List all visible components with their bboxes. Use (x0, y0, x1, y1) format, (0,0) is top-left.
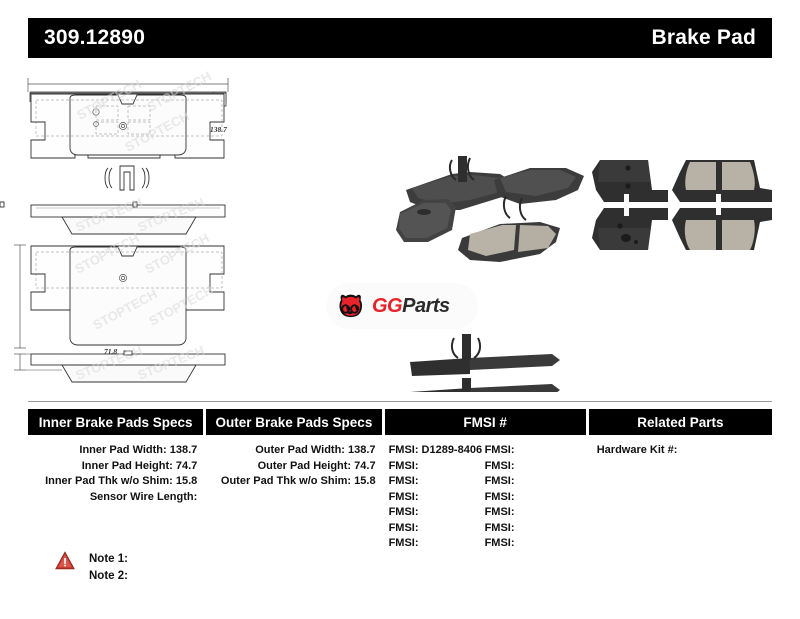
spec-label: Inner Pad Height: (82, 460, 173, 472)
photo-pad-friction-lower (672, 206, 772, 250)
fmsi-label: FMSI: (485, 475, 515, 487)
fmsi-label: FMSI: (389, 522, 419, 534)
photo-pad-angled-c (458, 222, 560, 262)
spec-label: Inner Pad Width: (79, 444, 166, 456)
fmsi-subcolumn-left: FMSI:D1289-8406FMSI:FMSI:FMSI:FMSI:FMSI:… (389, 443, 485, 552)
fmsi-value (419, 491, 422, 503)
fmsi-row: FMSI: (389, 536, 485, 552)
fmsi-value (515, 537, 518, 549)
spec-value: 74.7 (351, 460, 375, 472)
photo-pad-back-upper (592, 160, 668, 204)
fmsi-value (515, 444, 518, 456)
photo-pad-friction-upper (672, 160, 772, 203)
fmsi-label: FMSI: (485, 491, 515, 503)
spec-row: Inner Pad Height: 74.7 (28, 459, 203, 475)
product-type: Brake Pad (651, 26, 756, 50)
spec-label: Outer Pad Height: (258, 460, 352, 472)
fmsi-row: FMSI: (485, 505, 581, 521)
fmsi-row: FMSI: (389, 474, 485, 490)
table-top-divider (28, 401, 772, 402)
fmsi-row: FMSI: (389, 505, 485, 521)
product-photos (0, 62, 800, 392)
fmsi-value (419, 506, 422, 518)
photo-pad-back-lower (592, 206, 668, 250)
fmsi-label: FMSI: (389, 475, 419, 487)
warning-triangle-icon (55, 551, 75, 570)
logo-wordmark: GGParts (372, 295, 450, 318)
spec-value: 74.7 (173, 460, 197, 472)
fmsi-value (515, 506, 518, 518)
fmsi-value (419, 475, 422, 487)
photo-pad-edge-lower (410, 378, 560, 392)
fmsi-label: FMSI: (485, 537, 515, 549)
specifications-table: Inner Brake Pads Specs Outer Brake Pads … (28, 409, 772, 552)
logo-parts-text: Parts (402, 295, 450, 317)
fmsi-label: FMSI: (389, 444, 419, 456)
column-header-outer-specs: Outer Brake Pads Specs (206, 409, 381, 435)
fmsi-label: FMSI: (485, 506, 515, 518)
logo-gg-text: GG (372, 295, 402, 317)
fmsi-label: FMSI: (389, 537, 419, 549)
fmsi-column: FMSI:D1289-8406FMSI:FMSI:FMSI:FMSI:FMSI:… (385, 443, 586, 552)
fmsi-row: FMSI:D1289-8406 (389, 443, 485, 459)
spec-row: Sensor Wire Length: (28, 490, 203, 506)
spec-label: Outer Pad Thk w/o Shim: (221, 475, 351, 487)
fmsi-row: FMSI: (389, 459, 485, 475)
fmsi-row: FMSI: (485, 443, 581, 459)
ggparts-logo: GGParts (326, 283, 478, 329)
note-2: Note 2: (89, 568, 128, 585)
spec-row: Outer Pad Height: 74.7 (206, 459, 381, 475)
brake-pad-photographs (0, 62, 800, 392)
spec-value: 15.8 (351, 475, 375, 487)
spec-row: Outer Pad Width: 138.7 (206, 443, 381, 459)
fmsi-row: FMSI: (485, 490, 581, 506)
fmsi-label: FMSI: (389, 491, 419, 503)
table-body: Inner Pad Width: 138.7Inner Pad Height: … (28, 443, 772, 552)
fmsi-value (515, 475, 518, 487)
notes-section: Note 1: Note 2: (55, 551, 128, 585)
related-parts-column: Hardware Kit #: (589, 443, 772, 552)
note-lines: Note 1: Note 2: (89, 551, 128, 585)
fmsi-label: FMSI: (485, 460, 515, 472)
fmsi-subcolumn-right: FMSI:FMSI:FMSI:FMSI:FMSI:FMSI:FMSI: (485, 443, 581, 552)
spec-row: Inner Pad Width: 138.7 (28, 443, 203, 459)
fmsi-value (515, 460, 518, 472)
photo-pad-angled-b (396, 199, 456, 242)
column-header-related-parts: Related Parts (589, 409, 772, 435)
header-bar: 309.12890 Brake Pad (28, 18, 772, 58)
photo-pad-edge-upper (410, 334, 560, 376)
column-header-fmsi: FMSI # (385, 409, 586, 435)
spec-value: 138.7 (345, 444, 376, 456)
spec-label: Outer Pad Width: (255, 444, 345, 456)
outer-specs-column: Outer Pad Width: 138.7Outer Pad Height: … (206, 443, 381, 552)
fmsi-row: FMSI: (485, 536, 581, 552)
table-header-row: Inner Brake Pads Specs Outer Brake Pads … (28, 409, 772, 435)
inner-specs-column: Inner Pad Width: 138.7Inner Pad Height: … (28, 443, 203, 552)
fmsi-row: FMSI: (485, 474, 581, 490)
part-number: 309.12890 (44, 26, 145, 50)
related-part-row: Hardware Kit #: (589, 443, 772, 459)
fmsi-value (419, 460, 422, 472)
fmsi-label: FMSI: (485, 522, 515, 534)
spec-value: 138.7 (167, 444, 198, 456)
spec-row: Inner Pad Thk w/o Shim: 15.8 (28, 474, 203, 490)
photo-pad-angled-d (494, 168, 584, 220)
note-1: Note 1: (89, 551, 128, 568)
fmsi-label: FMSI: (389, 506, 419, 518)
spec-label: Inner Pad Thk w/o Shim: (45, 475, 173, 487)
ggparts-mascot-icon (335, 291, 365, 321)
product-spec-sheet: 309.12890 Brake Pad STOPTECH (0, 0, 800, 619)
fmsi-value: D1289-8406 (419, 444, 483, 456)
fmsi-value (419, 537, 422, 549)
fmsi-row: FMSI: (389, 521, 485, 537)
fmsi-value (515, 491, 518, 503)
spec-value: 15.8 (173, 475, 197, 487)
fmsi-row: FMSI: (485, 459, 581, 475)
spec-row: Outer Pad Thk w/o Shim: 15.8 (206, 474, 381, 490)
fmsi-row: FMSI: (389, 490, 485, 506)
fmsi-value (419, 522, 422, 534)
spec-label: Sensor Wire Length: (90, 491, 197, 503)
fmsi-value (515, 522, 518, 534)
column-header-inner-specs: Inner Brake Pads Specs (28, 409, 203, 435)
fmsi-label: FMSI: (389, 460, 419, 472)
fmsi-label: FMSI: (485, 444, 515, 456)
fmsi-row: FMSI: (485, 521, 581, 537)
